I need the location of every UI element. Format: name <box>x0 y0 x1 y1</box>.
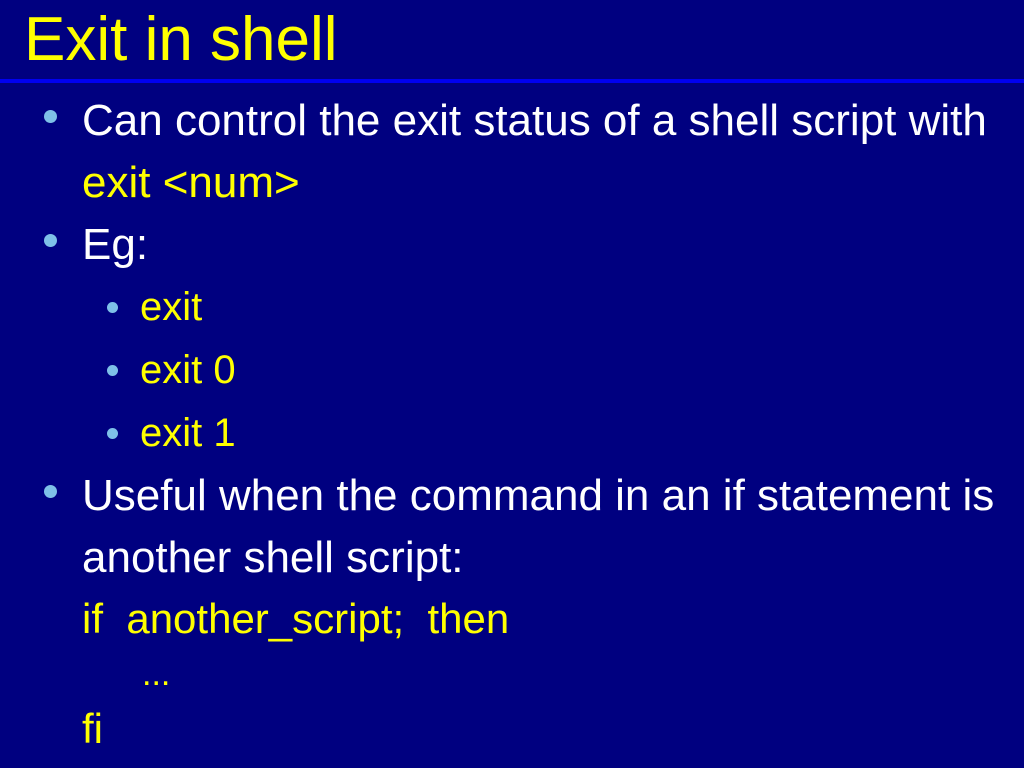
bullet-item-3: Useful when the command in an if stateme… <box>0 465 1024 589</box>
code-line-ellipsis: ... <box>82 649 1024 699</box>
sub-bullet-item-1: exit <box>0 276 1024 339</box>
sub-bullet-text-1: exit <box>140 276 1024 339</box>
slide-canvas: Exit in shell Can control the exit statu… <box>0 0 1024 768</box>
bullet-item-1: Can control the exit status of a shell s… <box>0 90 1024 214</box>
bullet-text-2: Eg: <box>82 214 1024 276</box>
page-title: Exit in shell <box>24 4 338 76</box>
sub-bullet-text-2: exit 0 <box>140 339 1024 402</box>
bullet-item-2: Eg: <box>0 214 1024 276</box>
sub-bullet-text-3: exit 1 <box>140 402 1024 465</box>
inline-code-1: exit <num> <box>82 158 300 207</box>
bullet-text-1-plain: Can control the exit status of a shell s… <box>82 96 987 145</box>
bullet-dot-icon <box>44 234 57 247</box>
bullet-text-1: Can control the exit status of a shell s… <box>82 90 1024 214</box>
sub-bullet-item-3: exit 1 <box>0 402 1024 465</box>
bullet-dot-icon <box>44 485 57 498</box>
bullet-dot-icon <box>44 110 57 123</box>
sub-bullet-dot-icon <box>107 365 118 376</box>
code-line-fi: fi <box>82 699 1024 759</box>
code-block: if another_script; then ... fi <box>0 589 1024 759</box>
sub-bullet-dot-icon <box>107 428 118 439</box>
bullet-text-3: Useful when the command in an if stateme… <box>82 465 1024 589</box>
sub-bullet-list: exit exit 0 exit 1 <box>0 276 1024 465</box>
sub-bullet-dot-icon <box>107 302 118 313</box>
sub-bullet-item-2: exit 0 <box>0 339 1024 402</box>
title-divider <box>0 79 1024 83</box>
code-line-if: if another_script; then <box>82 589 1024 649</box>
slide-body: Can control the exit status of a shell s… <box>0 90 1024 768</box>
slide-title-block: Exit in shell <box>0 0 1024 86</box>
